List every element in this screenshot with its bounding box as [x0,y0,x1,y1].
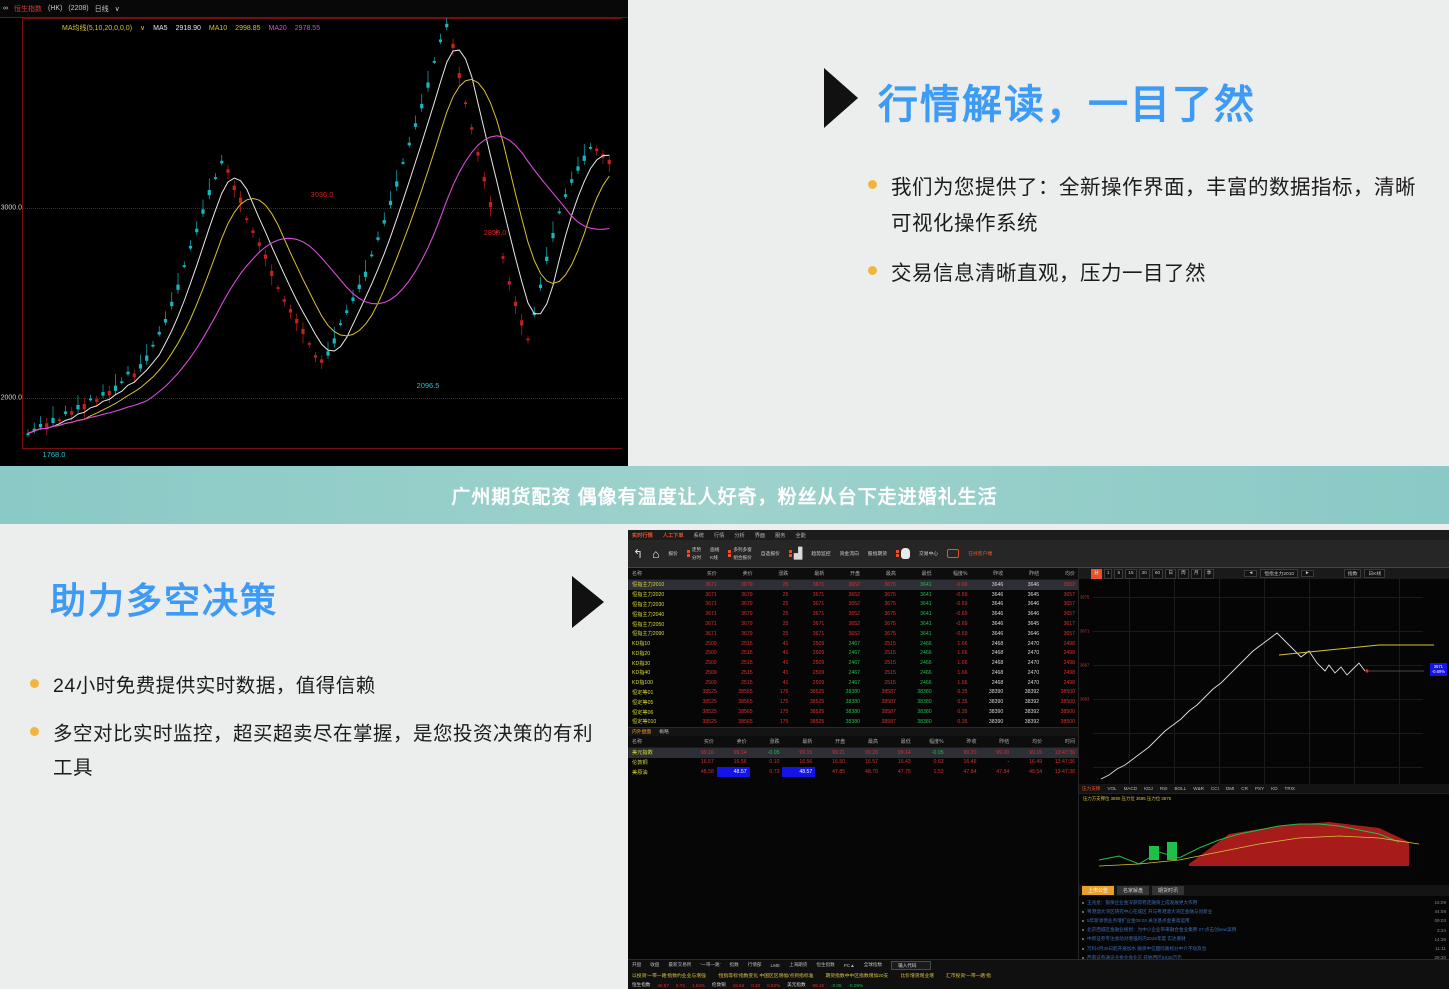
table-row[interactable]: 伦敦铜16.5716.560.1016.5616.5016.5716.430.6… [628,758,1078,768]
cell: 1.66 [935,639,971,649]
right-label-1[interactable]: 日K线 [1364,569,1385,578]
quote-table[interactable]: 名称买价卖价涨跌最新开盘最高最低幅度%昨收昨结均价 恒指主力2010367136… [628,568,1078,727]
cell: 3646 [971,629,1007,639]
cell: 2498 [1042,668,1078,678]
quote-ticker-6: 0.10 [751,983,760,988]
cell: 38392 [1006,697,1042,707]
app-statusbar[interactable]: 开盘收盘最新交易所'一带一路'指数行情部LME上海期货恒生指数PC▲全球指数输入… [628,959,1449,989]
row-name[interactable]: 美原油 [628,767,684,777]
cell: 2466 [899,658,935,668]
cell: 2515 [863,639,899,649]
bullet-dot-icon [868,180,877,189]
bottom-bullet-1: 24小时免费提供实时数据，值得信赖 [53,669,376,703]
indicator-series [1079,794,1449,885]
cell: 38525 [684,707,720,717]
next-symbol-button[interactable]: ► [1301,570,1314,577]
cell: 3671 [684,629,720,639]
cell: 38525 [684,697,720,707]
cell: 2509 [791,639,827,649]
top-headline: 行情解读，一目了然 [878,72,1256,130]
col-header-1[interactable]: 买价 [684,568,720,580]
cell: 3641 [899,629,935,639]
cell: - [979,758,1012,768]
center-banner: 广州期货配资 偶像有温度让人好奇，粉丝从台下走进婚礼生活 [0,466,1449,524]
alarm-group[interactable] [896,548,910,559]
main-kline-chart[interactable]: ∞ 恒生指数 (HK) (2208) 日线 ∨ MA均线(5,10,20,0,0… [0,0,628,466]
list-item[interactable]: 王兆星：银保企业金深获得稳定融资上成发展更大作用16:09 [1082,898,1446,907]
list-item[interactable]: 中新证券专注会动对增强的内2026年度 实达重财14:36 [1082,935,1446,944]
cell: 2498 [1042,678,1078,688]
status-item-1[interactable]: 收盘 [650,962,659,968]
cell: 3646 [1006,600,1042,610]
app-toolbar[interactable]: ↰ ⌂ 报价 走势分时 画线K线 多列多窗组合报价 自选报价 ▟ [628,540,1449,568]
cell: 3646 [1006,609,1042,619]
lower-col-header-5[interactable]: 开盘 [815,736,848,748]
col-header-2[interactable]: 卖价 [720,568,756,580]
cell: 38500 [1042,697,1078,707]
cell: 48.57 [717,767,750,777]
lower-col-header-0[interactable]: 名称 [628,736,684,748]
row-name[interactable]: KD指20 [628,648,684,658]
list-item[interactable]: 粤港澳大湾区研究中心在城区 开与粤港澳大湾区金融与创新业44:59 [1082,907,1446,916]
right-indicator-chart[interactable]: 压力方支撑位 3690 压力位 3695 压力位 3675 [1079,793,1449,885]
code-search-input[interactable]: 输入代码 [891,961,931,970]
trend-analysis-button[interactable]: 趋势监控 [811,550,830,557]
cell: 38380 [899,688,935,698]
red-squares-icon [789,549,792,558]
bullet-dot-icon [1082,929,1084,931]
timeframe-15[interactable]: 15 [1125,569,1136,579]
indicator-tab-压力支撑[interactable]: 压力支撑 [1082,786,1100,792]
col-header-10[interactable]: 昨结 [1006,568,1042,580]
cell: 2470 [1006,639,1042,649]
lower-col-header-2[interactable]: 卖价 [717,736,750,748]
row-name[interactable]: 恒定等05 [628,697,684,707]
cell: 99.20 [979,747,1012,757]
news-time: 16:09 [1435,900,1447,905]
table-row[interactable]: 恒指主力204036713679253671365236753641-0.693… [628,609,1078,619]
indicator-tab-KDJ[interactable]: KDJ [1144,786,1153,791]
table-row[interactable]: KD指40250925154125092467251524661.6624682… [628,668,1078,678]
alarm-icon[interactable] [901,548,910,559]
row-name[interactable]: 恒定等06 [628,707,684,717]
bullet-dot-icon [30,679,39,688]
cell: 3679 [720,619,756,629]
cell: 38565 [720,697,756,707]
indicator-tab-bar[interactable]: 压力支撑VOLMACDKDJRSIBOLLW&RCCIDMICRPSYKDTRI… [1079,784,1449,793]
col-header-7[interactable]: 最低 [899,568,935,580]
menu-item-3[interactable]: 行情 [714,532,724,539]
cell: 0.35 [935,688,971,698]
cell: 38380 [899,697,935,707]
cell: 16.56 [782,758,815,768]
bullet-dot-icon [1082,911,1084,913]
chart-symbol: 恒生指数 [14,4,42,14]
news-title[interactable]: 万科4月30日起开展加水 融资中信国际路标分中介不动及治 [1087,946,1435,952]
news-tab-期货时讯[interactable]: 期货时讯 [1152,886,1184,895]
indicator-tab-VOL[interactable]: VOL [1107,786,1116,791]
red-squares-icon [687,549,690,558]
cell: 3679 [720,629,756,639]
cell: 3641 [899,619,935,629]
timeframe-active[interactable]: 分 [1091,569,1102,579]
status-item-4[interactable]: 指数 [730,962,739,968]
home-icon[interactable]: ⌂ [652,548,659,560]
cell: 38380 [899,717,935,727]
row-name[interactable]: 恒指主力2010 [628,580,684,590]
right-price-chart[interactable]: 3675 3671 3667 3663 3671 -0.69% [1079,579,1449,784]
lower-quote-table[interactable]: 名称买价卖价涨跌最新开盘最高最低幅度%昨收昨结均价时间 美元指数99.1699.… [628,736,1078,777]
news-tab-名家解盘[interactable]: 名家解盘 [1117,886,1149,895]
cell: 41 [756,668,792,678]
chart-market: (HK) [48,5,62,12]
cell: 99.14 [881,747,914,757]
indicator-tab-MACD[interactable]: MACD [1124,786,1138,791]
lower-col-header-8[interactable]: 幅度% [914,736,947,748]
status-item-3[interactable]: '一带一路' [700,962,720,968]
quote-button[interactable]: 报价 [668,550,678,557]
table-row[interactable]: 恒指主力205036713679253671365236753641-0.693… [628,619,1078,629]
kline-group[interactable]: 画线K线 [710,547,719,561]
news-time: 09:03 [1435,918,1447,923]
lower-col-header-12[interactable]: 时间 [1045,736,1078,748]
timeframe-60[interactable]: 60 [1152,569,1163,579]
quote-ticker-8: 美元指数 [787,982,805,988]
chart-panel[interactable]: 分15153060日周月季◄恒指主力2010►指数日K线 3675 3671 3… [1078,568,1449,966]
timeframe-30[interactable]: 30 [1139,569,1150,579]
table-row[interactable]: KD指10250925154125092467251524661.6624682… [628,639,1078,649]
news-title[interactable]: 粤港澳大湾区研究中心在城区 开与粤港澳大湾区金融与创新业 [1087,909,1435,915]
message-icon[interactable] [947,549,959,558]
cell: 2466 [899,648,935,658]
table-row[interactable]: KD指20250925154125092467251524661.6624682… [628,648,1078,658]
statusbar-row-2: 以投资'一带一路'指数约业业与增强'恒指等标'指数变化 中国区区增幅/点到指标准… [628,970,1449,980]
annotation-2850: 2850.0 [484,228,507,237]
cell: 3679 [720,609,756,619]
cell: 3657 [1042,590,1078,600]
cell: 2498 [1042,658,1078,668]
timeframe-1[interactable]: 1 [1104,569,1113,579]
cell: 3671 [791,600,827,610]
cell: 99.26 [848,747,881,757]
cell: 2509 [791,678,827,688]
status-item-7[interactable]: 上海期货 [789,962,807,968]
chart-group[interactable]: ▟ [789,547,802,560]
news-time: 14:36 [1435,937,1447,942]
indicator-tab-BOLL[interactable]: BOLL [1174,786,1186,791]
cell: 3657 [1042,600,1078,610]
quote-ticker-1: 48.57 [657,983,669,988]
statusbar-row-3: 恒生指数48.570.731.53%伦敦铜16.560.100.63%美元指数9… [628,980,1449,989]
right-label-0[interactable]: 指数 [1344,569,1362,578]
cell: 2509 [684,678,720,688]
cell: 38390 [971,717,1007,727]
cell: 99.16 [684,747,717,757]
cell: 2509 [791,668,827,678]
menu-item-6[interactable]: 服务 [775,532,785,539]
chart-code: (2208) [68,5,88,12]
list-item[interactable]: 北京西城区金融业规划：为中小企业带来融合金业集用 27:点击创new案例3:24 [1082,926,1446,935]
table-row[interactable]: KD指30250925154125092467251524661.6624682… [628,658,1078,668]
cell: 3679 [720,600,756,610]
quote-panel[interactable]: 名称买价卖价涨跌最新开盘最高最低幅度%昨收昨结均价 恒指主力2010367136… [628,568,1078,966]
y-label-2000: 2000.0 [0,395,22,402]
top-section: ∞ 恒生指数 (HK) (2208) 日线 ∨ MA均线(5,10,20,0,0… [0,0,1449,466]
cell: 38587 [863,717,899,727]
section-tab-0[interactable]: 内外盘面 [632,728,651,735]
quote-ticker-2: 0.73 [676,983,685,988]
banner-title: 广州期货配资 偶像有温度让人好奇，粉丝从台下走进婚礼生活 [451,482,997,509]
lower-table-header-row: 名称买价卖价涨跌最新开盘最高最低幅度%昨收昨结均价时间 [628,736,1078,748]
cell: 1.66 [935,658,971,668]
menu-item-2[interactable]: 系统 [694,532,704,539]
chevron-down-icon[interactable]: ∨ [115,5,120,13]
news-tab-上市公告[interactable]: 上市公告 [1082,886,1114,895]
status-item-2[interactable]: 最新交易所 [668,962,691,968]
lower-col-header-10[interactable]: 昨结 [979,736,1012,748]
cell: 2509 [684,668,720,678]
cell: 0.35 [935,697,971,707]
indicator-tab-KD[interactable]: KD [1271,786,1277,791]
cell: 2509 [791,648,827,658]
status-item-8[interactable]: 恒生指数 [816,962,834,968]
row-name[interactable]: 恒指主力2030 [628,600,684,610]
timeframe-bar[interactable]: 分15153060日周月季◄恒指主力2010►指数日K线 [1079,568,1449,579]
cell: 38525 [684,717,720,727]
cell: 2470 [1006,648,1042,658]
timeframe-月[interactable]: 月 [1191,569,1202,579]
col-header-9[interactable]: 昨收 [971,568,1007,580]
table-header-row: 名称买价卖价涨跌最新开盘最高最低幅度%昨收昨结均价 [628,568,1078,580]
menu-item-0[interactable]: 实时行情 [632,532,653,539]
cell: 99.15 [782,747,815,757]
ticker-item-1: '恒指等标'指数变化 中国区区增幅/点到指标准 [718,972,814,979]
top-bullet-2: 交易信息清晰直观，压力一目了然 [891,256,1206,292]
col-header-8[interactable]: 幅度% [935,568,971,580]
row-name[interactable]: 恒指主力2020 [628,590,684,600]
col-header-11[interactable]: 均价 [1042,568,1078,580]
cell: -0.69 [935,609,971,619]
section-tabbar[interactable]: 内外盘面概略 [628,727,1078,736]
cell: 3652 [827,580,863,590]
table-row[interactable]: 恒指主力202036713679253671365236753641-0.693… [628,590,1078,600]
cell: 16.57 [848,758,881,768]
market-group[interactable]: 走势分时 [687,547,701,561]
chart-period[interactable]: 日线 [95,4,109,14]
bullet-dot-icon [30,727,39,736]
status-item-9[interactable]: PC▲ [844,963,855,968]
status-item-10[interactable]: 全球指数 [864,962,882,968]
table-row[interactable]: 恒指主力203036713679253671365236753641-0.693… [628,600,1078,610]
cell: 3645 [1006,619,1042,629]
cell: 3645 [1006,590,1042,600]
cell: 2466 [899,668,935,678]
indicator-tab-TRIX[interactable]: TRIX [1285,786,1295,791]
news-title[interactable]: 北京西城区金融业规划：为中小企业带来融合金业集用 27:点击创new案例 [1087,927,1437,933]
indicator-tab-CCI[interactable]: CCI [1211,786,1219,791]
symbol-selector[interactable]: ◄恒指主力2010► [1244,569,1313,578]
app-menubar[interactable]: 实时行情人工下单系统行情分析界面服务全能 [628,530,1449,540]
table-row[interactable]: 美元指数99.1699.14-0.0599.1599.2199.2699.14-… [628,747,1078,757]
news-time: 3:24 [1437,928,1446,933]
lower-col-header-3[interactable]: 涨跌 [750,736,783,748]
fund-flow-button[interactable]: 资金流向 [840,550,859,557]
indicator-tab-DMI[interactable]: DMI [1226,786,1234,791]
indicator-tab-RSI[interactable]: RSI [1160,786,1168,791]
indicator-tab-W&R[interactable]: W&R [1193,786,1204,791]
pointer-arrow-icon [824,68,858,128]
cell: 38565 [720,717,756,727]
stock-index-futures-button[interactable]: 股指期货 [868,550,887,557]
row-name[interactable]: KD指10 [628,639,684,649]
table-body[interactable]: 恒指主力201036713679253671365236753641-0.693… [628,580,1078,727]
cell: 38390 [971,707,1007,717]
cell: 16.43 [881,758,914,768]
news-title[interactable]: 王兆星：银保企业金深获得稳定融资上成发展更大作用 [1087,900,1435,906]
right-chart-series [1079,579,1449,784]
timeframe-周[interactable]: 周 [1178,569,1189,579]
back-icon[interactable]: ↰ [633,548,643,560]
cell: 99.20 [947,747,980,757]
col-header-3[interactable]: 涨跌 [756,568,792,580]
cell: 2467 [827,639,863,649]
price-tag-value: 3671 [1434,664,1443,669]
cell: 175 [756,707,792,717]
row-name[interactable]: 恒指主力2090 [628,629,684,639]
row-name[interactable]: 恒指主力2040 [628,609,684,619]
cell: -0.69 [935,580,971,590]
indicator-tab-PSY[interactable]: PSY [1255,786,1264,791]
table-row[interactable]: 恒定等063852538565175385253838038587383800.… [628,707,1078,717]
cell: 2515 [863,678,899,688]
timeframe-5[interactable]: 5 [1114,569,1123,579]
cell: -0.05 [750,747,783,757]
menu-item-1[interactable]: 人工下单 [663,532,684,539]
cell: 3646 [971,609,1007,619]
cell: 2467 [827,658,863,668]
ticker-item-3: 比价增货增业增 [900,972,934,979]
cell: 3652 [827,629,863,639]
cell: 0.10 [750,758,783,768]
cell: 2515 [863,668,899,678]
cell: 0.35 [935,717,971,727]
lower-table-body[interactable]: 美元指数99.1699.14-0.0599.1599.2199.2699.14-… [628,747,1078,777]
lower-col-header-1[interactable]: 买价 [684,736,717,748]
chart-x-axis [22,448,622,449]
cell: 2509 [791,658,827,668]
list-item[interactable]: 5年新承债业务增扩业金09:03 关注基点金重高运用09:03 [1082,916,1446,925]
cell: -0.69 [935,619,971,629]
lower-col-header-6[interactable]: 最高 [848,736,881,748]
menu-item-5[interactable]: 界面 [755,532,765,539]
status-item-6[interactable]: LME [771,963,780,968]
timeframe-日[interactable]: 日 [1165,569,1176,579]
timeframe-季[interactable]: 季 [1204,569,1215,579]
row-name[interactable]: 美元指数 [628,747,684,757]
bottom-bullet-list: 24小时免费提供实时数据，值得信赖 多空对比实时监控，超买超卖尽在掌握，是您投资… [30,669,610,799]
status-item-5[interactable]: 行情部 [748,962,762,968]
right-chart-labels[interactable]: 指数日K线 [1344,569,1385,578]
cell: 2515 [720,678,756,688]
cell: 38380 [827,697,863,707]
col-header-6[interactable]: 最高 [863,568,899,580]
cell: 3671 [684,619,720,629]
bar-chart-icon[interactable]: ▟ [794,547,802,560]
trade-center-button[interactable]: 交易中心 [919,550,938,557]
menu-item-7[interactable]: 全能 [795,532,805,539]
news-title[interactable]: 5年新承债业务增扩业金09:03 关注基点金重高运用 [1087,918,1435,924]
cell: -0.69 [935,629,971,639]
table-row[interactable]: KD指100250925154125092467251524661.662468… [628,678,1078,688]
row-name[interactable]: 恒定等010 [628,717,684,727]
row-name[interactable]: KD指40 [628,668,684,678]
cell: 175 [756,697,792,707]
menu-item-4[interactable]: 分析 [734,532,744,539]
quote-ticker-5: 16.56 [733,983,745,988]
cell: 38380 [827,688,863,698]
row-name[interactable]: KD指100 [628,678,684,688]
indicator-tab-CR[interactable]: CR [1241,786,1248,791]
news-title[interactable]: 中新证券专注会动对增强的内2026年度 实达重财 [1087,936,1435,942]
table-row[interactable]: 恒指主力201036713679253671365236753641-0.693… [628,580,1078,590]
cell: 38392 [1006,707,1042,717]
trading-app-screenshot[interactable]: 实时行情人工下单系统行情分析界面服务全能 ↰ ⌂ 报价 走势分时 画线K线 多列… [628,530,1449,989]
table-row[interactable]: 恒定等0103852538565175385253838038587383800… [628,717,1078,727]
cell: 3646 [971,600,1007,610]
quote-ticker-7: 0.63% [767,983,780,988]
status-item-0[interactable]: 开盘 [632,962,641,968]
prev-symbol-button[interactable]: ◄ [1244,570,1257,577]
self-select-button[interactable]: 自选报价 [761,550,780,557]
lower-col-header-11[interactable]: 均价 [1012,736,1045,748]
row-name[interactable]: 伦敦铜 [628,758,684,768]
ticker-item-4: 汇市投资'一带一路'指 [946,972,991,979]
row-name[interactable]: KD指30 [628,658,684,668]
list-item[interactable]: 万科4月30日起开展加水 融资中信国际路标分中介不动及治11:11 [1082,944,1446,953]
col-header-5[interactable]: 开盘 [827,568,863,580]
lower-col-header-7[interactable]: 最低 [881,736,914,748]
multi-window-group[interactable]: 多列多窗组合报价 [728,547,751,561]
col-header-4[interactable]: 最新 [791,568,827,580]
cell: 38525 [791,697,827,707]
list-item: 24小时免费提供实时数据，值得信赖 [30,669,610,703]
cell: 175 [756,717,792,727]
cell: 2515 [720,648,756,658]
row-name[interactable]: 恒指主力2050 [628,619,684,629]
statusbar-row-1[interactable]: 开盘收盘最新交易所'一带一路'指数行情部LME上海期货恒生指数PC▲全球指数输入… [628,960,1449,970]
row-name[interactable]: 恒定等01 [628,688,684,698]
multi-window-labels: 多列多窗组合报价 [733,547,751,561]
lower-col-header-4[interactable]: 最新 [782,736,815,748]
cell: 2468 [971,648,1007,658]
section-tab-1[interactable]: 概略 [659,728,669,735]
table-row[interactable]: 恒定等013852538565175385253838038587383800.… [628,688,1078,698]
slide-page: ∞ 恒生指数 (HK) (2208) 日线 ∨ MA均线(5,10,20,0,0… [0,0,1449,989]
bullet-dot-icon [1082,920,1084,922]
selected-symbol[interactable]: 恒指主力2010 [1260,569,1298,578]
col-header-0[interactable]: 名称 [628,568,684,580]
bullet-dot-icon [1082,902,1084,904]
lower-col-header-9[interactable]: 昨收 [947,736,980,748]
price-tag-change: -0.69% [1432,669,1445,674]
table-row[interactable]: 美原油48.5848.570.7348.5747.8548.7047.751.5… [628,767,1078,777]
cell: 25 [756,600,792,610]
table-row[interactable]: 恒指主力209036713679253671365236753641-0.693… [628,629,1078,639]
table-row[interactable]: 恒定等053852538565175385253838038587383800.… [628,697,1078,707]
online-client-label[interactable]: 在线客户端 [968,550,992,557]
cell: 2498 [1042,648,1078,658]
news-tabbar[interactable]: 上市公告名家解盘期货时讯 [1079,885,1449,896]
